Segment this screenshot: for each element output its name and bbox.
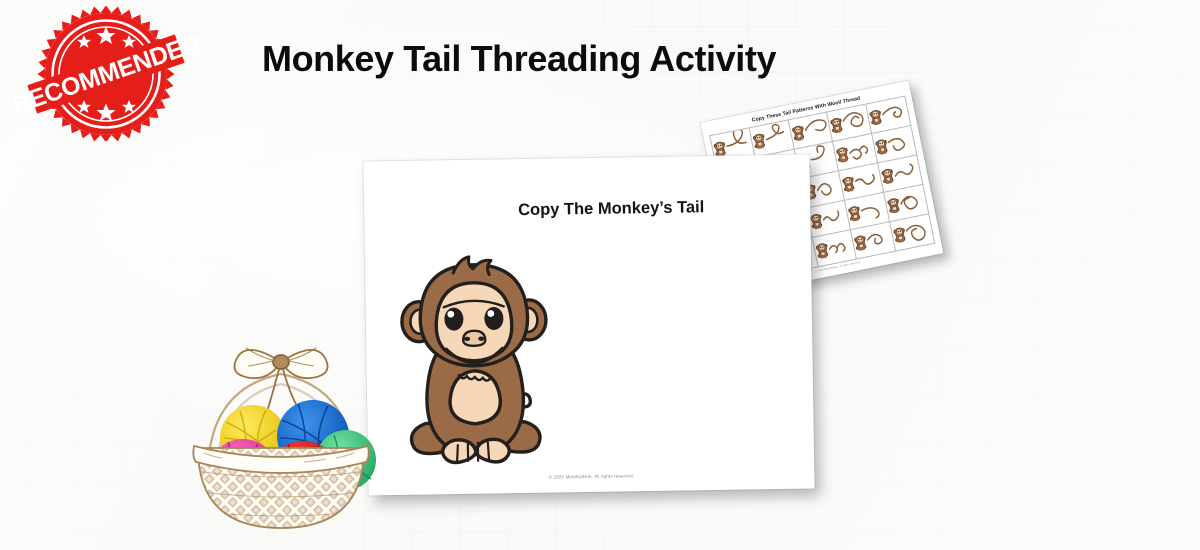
- yarn-basket-icon: [186, 308, 376, 540]
- tail-pattern-swirl-round: [897, 185, 928, 219]
- page-title: Monkey Tail Threading Activity: [262, 38, 776, 80]
- poster-canvas: RECOMMENDED Monkey Tail Threading Activi…: [0, 0, 1200, 550]
- tail-pattern-spiral-open: [885, 126, 916, 160]
- tail-pattern-wide-spiral: [903, 214, 934, 248]
- basket-bowl: [186, 446, 376, 528]
- tail-pattern-scallop-wave: [891, 156, 922, 190]
- recommended-stamp: RECOMMENDED: [14, 6, 204, 141]
- yarn-basket: [186, 308, 376, 540]
- monkey-icon: [393, 254, 556, 474]
- main-worksheet-page[interactable]: Copy The Monkey’s Tail: [363, 155, 814, 496]
- monkey-illustration: [393, 254, 556, 474]
- tail-pattern-spiral-tight: [879, 97, 910, 131]
- worksheet-heading: Copy The Monkey’s Tail: [364, 197, 810, 223]
- recommended-stamp-icon: RECOMMENDED: [14, 6, 204, 141]
